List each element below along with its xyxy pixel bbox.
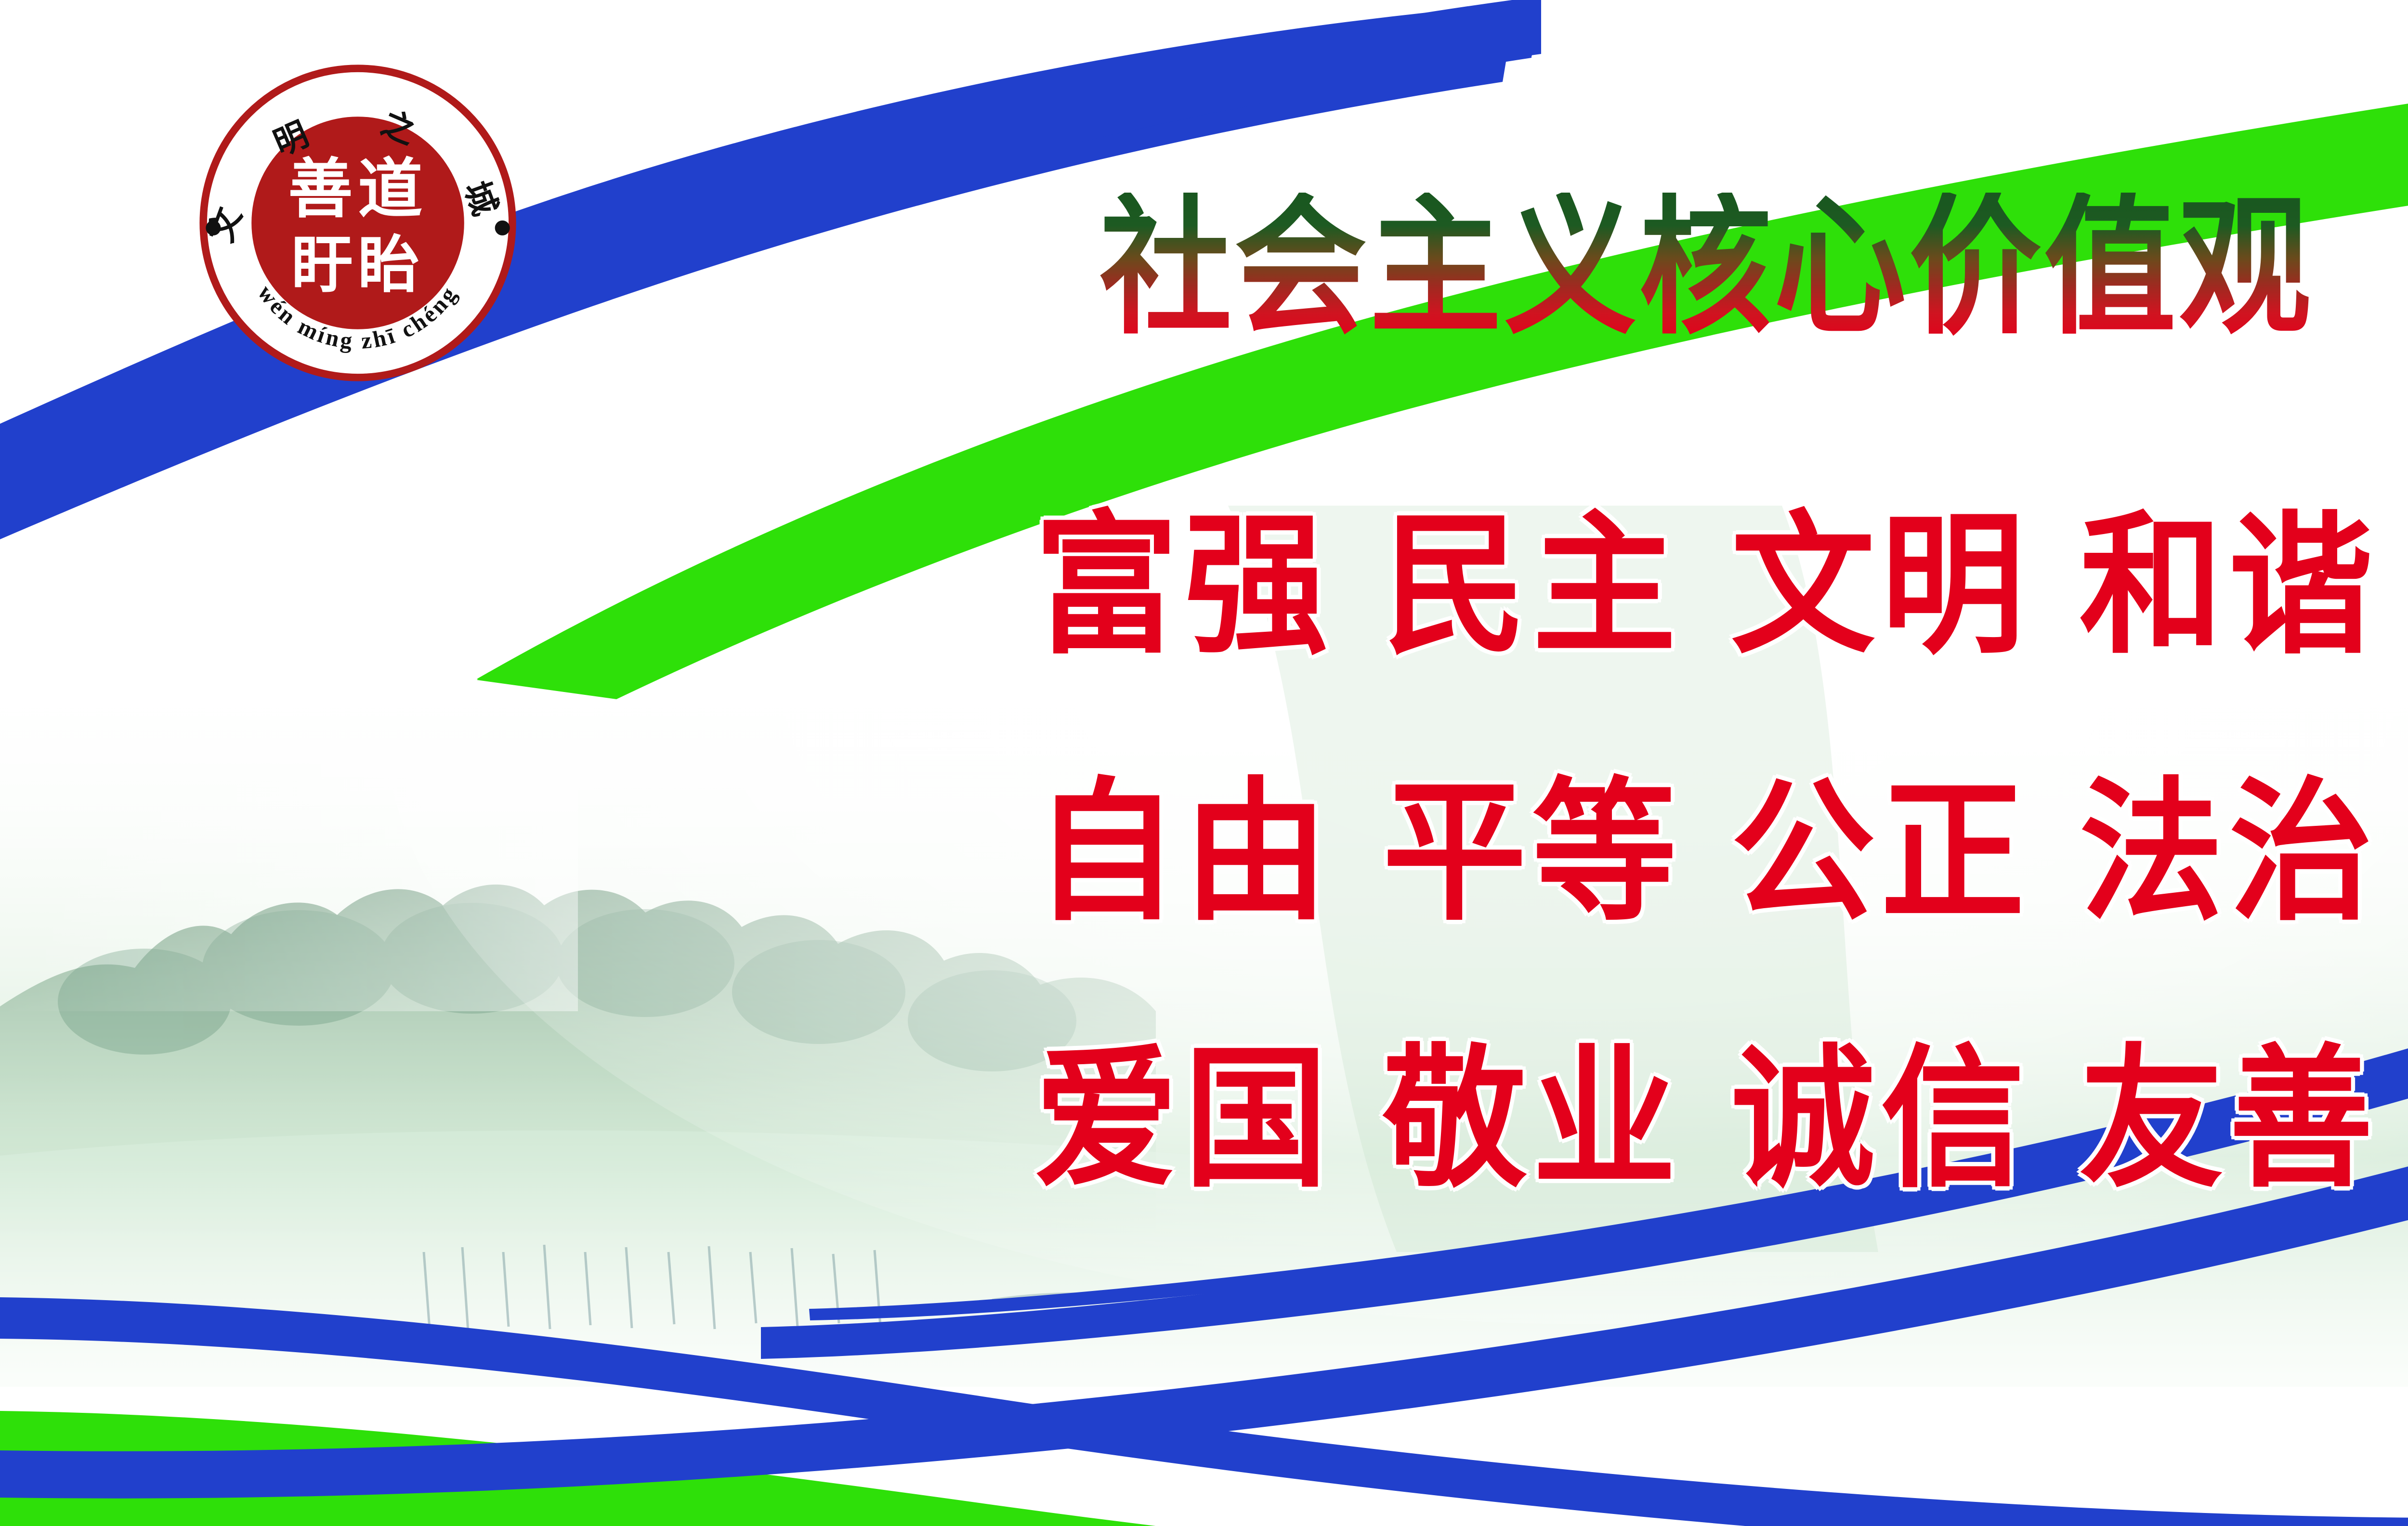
banner-board: 文 明 之 城 善道 盱眙 wén míng zhī chéng 社会主义核心价… bbox=[0, 0, 2408, 1526]
emblem-center-line1: 善道 bbox=[288, 151, 428, 227]
city-emblem[interactable]: 文 明 之 城 善道 盱眙 wén míng zhī chéng bbox=[192, 57, 524, 389]
blue-curve-right-inner bbox=[809, 559, 2408, 1320]
green-wedge-bottom-right bbox=[2138, 1242, 2408, 1526]
blue-curve-right-outer bbox=[0, 742, 2408, 1499]
emblem-center-line2: 盱眙 bbox=[291, 230, 424, 301]
